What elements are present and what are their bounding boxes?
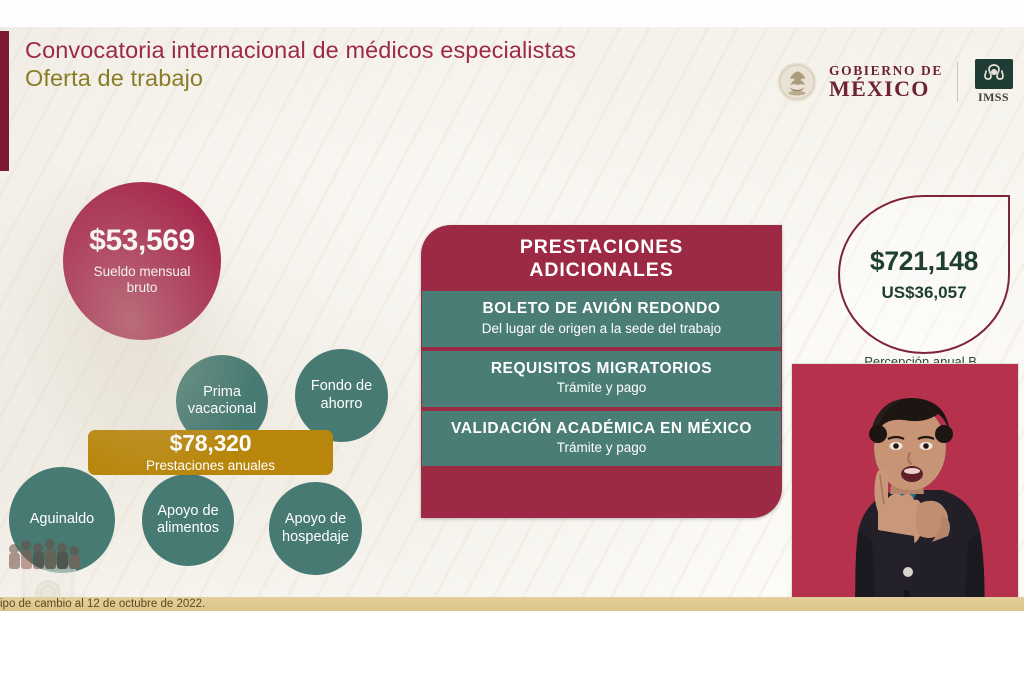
- monthly-salary-label-2: bruto: [127, 280, 158, 295]
- gob-line-2: MÉXICO: [829, 78, 943, 100]
- gobierno-de-mexico-wordmark: GOBIERNO DE MÉXICO: [829, 64, 943, 101]
- slide-canvas: Convocatoria internacional de médicos es…: [0, 27, 1024, 605]
- panel-row-title: VALIDACIÓN ACADÉMICA EN MÉXICO: [428, 420, 775, 439]
- annual-total-amount: $721,148: [870, 248, 978, 275]
- panel-title-line-1: PRESTACIONES: [520, 236, 683, 258]
- annual-benefits-badge: $78,320 Prestaciones anuales: [88, 430, 333, 475]
- monthly-salary-label: Sueldo mensual bruto: [94, 264, 191, 296]
- benefit-label: Fondo de ahorro: [299, 378, 384, 412]
- title-line-1: Convocatoria internacional de médicos es…: [25, 37, 725, 65]
- monthly-salary-label-1: Sueldo mensual: [94, 264, 191, 279]
- benefit-circle-apoyo-de-hospedaje: Apoyo de hospedaje: [269, 482, 362, 575]
- panel-row-validacion-academica: VALIDACIÓN ACADÉMICA EN MÉXICO Trámite y…: [422, 411, 781, 467]
- logo-divider: [957, 62, 958, 102]
- panel-row-subtitle: Del lugar de origen a la sede del trabaj…: [428, 321, 775, 337]
- panel-row-subtitle: Trámite y pago: [428, 440, 775, 456]
- title-line-2: Oferta de trabajo: [25, 65, 725, 93]
- gob-line-1: GOBIERNO DE: [829, 64, 943, 78]
- benefit-label: Prima vacacional: [180, 384, 264, 418]
- panel-row-requisitos-migratorios: REQUISITOS MIGRATORIOS Trámite y pago: [422, 351, 781, 407]
- sign-language-interpreter-video: [791, 363, 1019, 605]
- panel-row-title: BOLETO DE AVIÓN REDONDO: [428, 300, 775, 319]
- exchange-rate-note: ipo de cambio al 12 de octubre de 2022.: [0, 598, 280, 611]
- left-accent-bar: [0, 31, 9, 171]
- mexican-coat-of-arms-icon: [776, 61, 818, 103]
- benefit-label: Apoyo de alimentos: [146, 503, 230, 537]
- imss-logo: IMSS: [972, 59, 1015, 105]
- interpreter-figure: [792, 364, 1019, 605]
- page-title: Convocatoria internacional de médicos es…: [25, 37, 725, 92]
- annual-total-droplet: $721,148 US$36,057: [838, 195, 1010, 354]
- additional-benefits-panel: PRESTACIONES ADICIONALES BOLETO DE AVIÓN…: [421, 225, 782, 518]
- panel-row-title: REQUISITOS MIGRATORIOS: [428, 360, 775, 379]
- benefit-circle-apoyo-de-alimentos: Apoyo de alimentos: [142, 474, 234, 566]
- annual-benefits-amount: $78,320: [170, 432, 252, 455]
- monument-watermark-icon: [2, 521, 98, 605]
- panel-title-line-2: ADICIONALES: [529, 259, 673, 281]
- presentation-screenshot: Convocatoria internacional de médicos es…: [0, 0, 1024, 683]
- annual-benefits-label: Prestaciones anuales: [146, 459, 275, 473]
- benefit-label: Apoyo de hospedaje: [273, 511, 358, 545]
- monthly-salary-amount: $53,569: [89, 226, 195, 256]
- panel-row-boleto-avion: BOLETO DE AVIÓN REDONDO Del lugar de ori…: [422, 291, 781, 347]
- benefit-circle-fondo-de-ahorro: Fondo de ahorro: [295, 349, 388, 442]
- annual-total-usd: US$36,057: [881, 284, 966, 301]
- bottom-white-fill: [0, 611, 1024, 683]
- monthly-salary-circle: $53,569 Sueldo mensual bruto: [63, 182, 221, 340]
- panel-title: PRESTACIONES ADICIONALES: [421, 225, 782, 291]
- brand-logos: GOBIERNO DE MÉXICO IMSS: [776, 59, 1015, 105]
- top-white-band: [0, 0, 1024, 27]
- panel-row-subtitle: Trámite y pago: [428, 380, 775, 396]
- imss-logo-icon: [975, 59, 1013, 89]
- imss-label: IMSS: [978, 90, 1009, 105]
